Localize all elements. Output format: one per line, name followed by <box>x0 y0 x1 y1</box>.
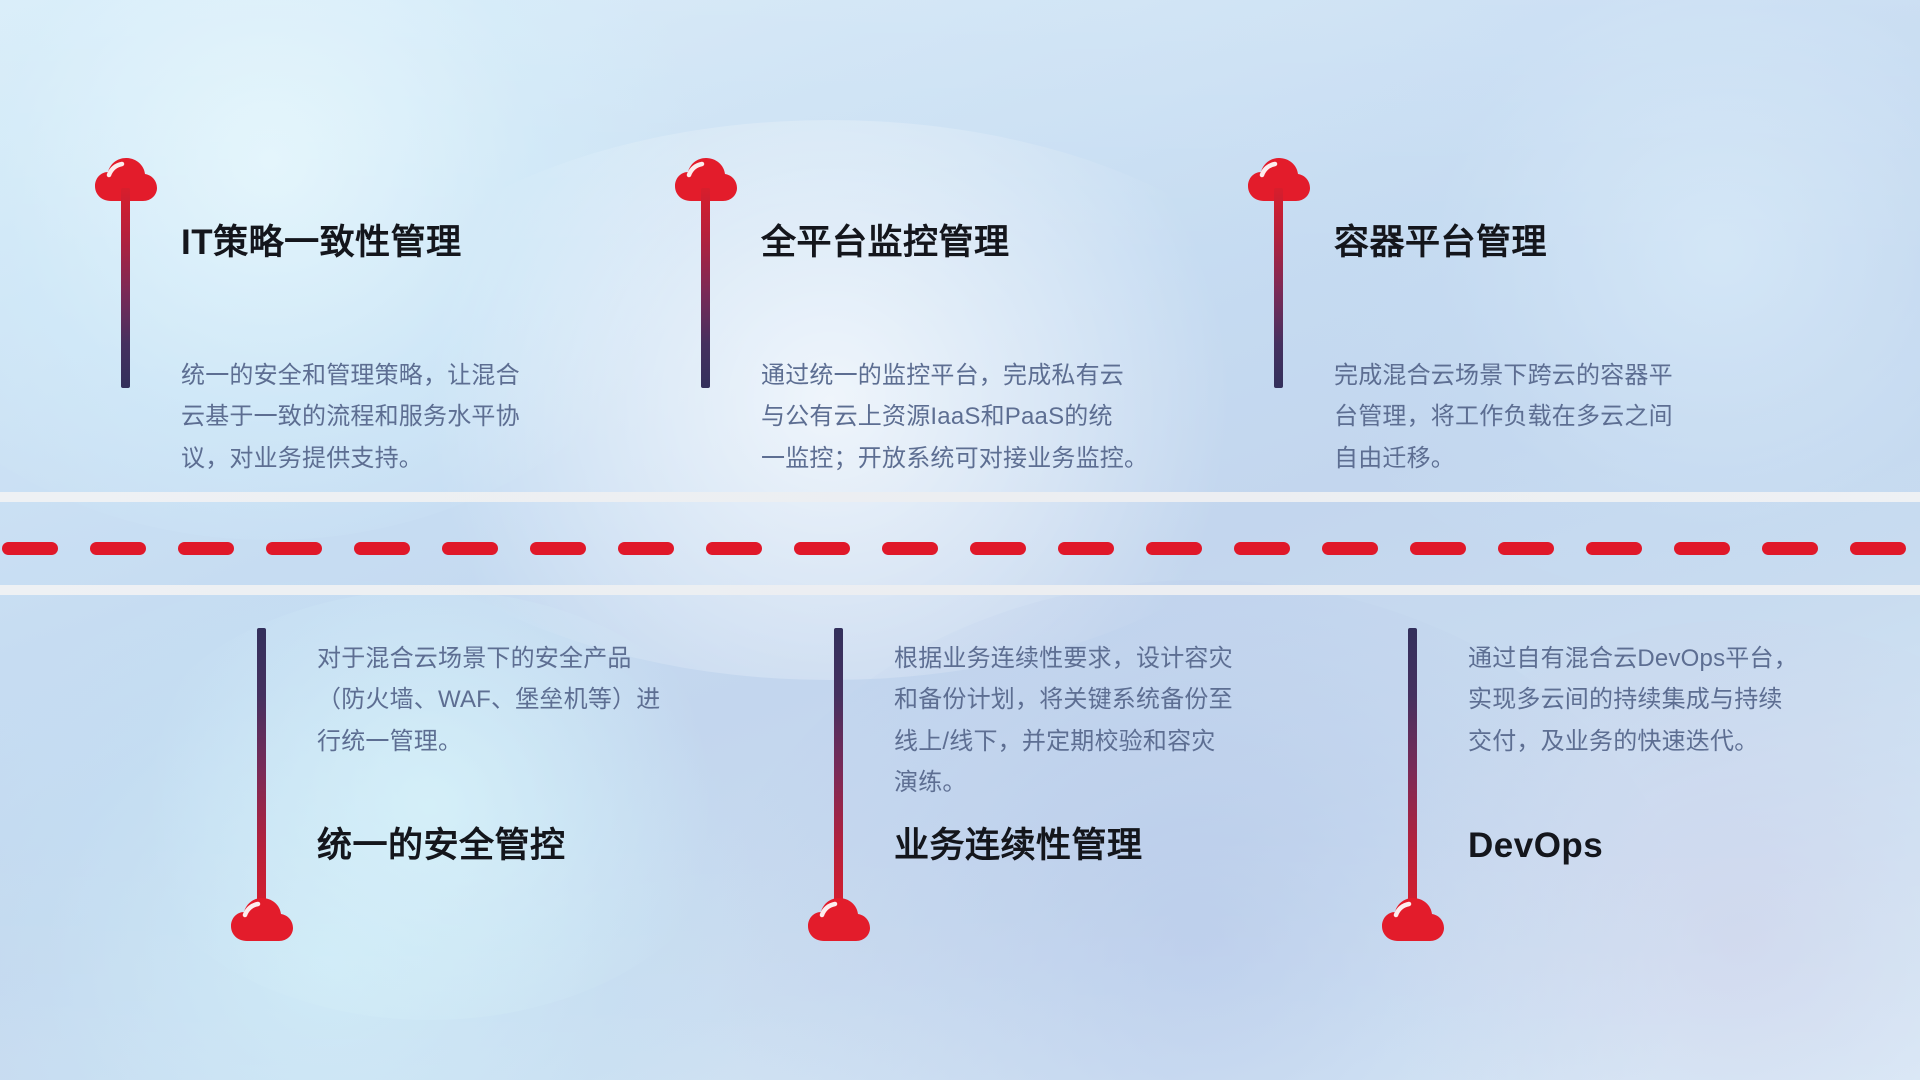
divider-band-upper <box>0 492 1920 502</box>
dash-segment <box>442 542 498 555</box>
top-card-body-1: 统一的安全和管理策略，让混合 云基于一致的流程和服务水平协 议，对业务提供支持。 <box>181 355 601 479</box>
dash-segment <box>90 542 146 555</box>
dash-segment <box>354 542 410 555</box>
timeline-stem <box>834 628 843 913</box>
cloud-icon <box>231 898 293 942</box>
bottom-card-body-3: 通过自有混合云DevOps平台， 实现多云间的持续集成与持续 交付，及业务的快速… <box>1468 638 1898 762</box>
bottom-card-title-3: DevOps <box>1468 825 1603 867</box>
dash-segment <box>266 542 322 555</box>
top-card-title-1: IT策略一致性管理 <box>181 222 462 264</box>
top-card-body-2: 通过统一的监控平台，完成私有云 与公有云上资源IaaS和PaaS的统 一监控；开… <box>761 355 1211 479</box>
cloud-icon <box>808 898 870 942</box>
dash-segment <box>794 542 850 555</box>
dash-segment <box>2 542 58 555</box>
timeline-stem <box>1408 628 1417 913</box>
top-card-title-3: 容器平台管理 <box>1334 222 1547 264</box>
dash-segment <box>1234 542 1290 555</box>
dash-segment <box>1850 542 1906 555</box>
dash-segment <box>1586 542 1642 555</box>
timeline-stem <box>257 628 266 913</box>
bottom-card-title-2: 业务连续性管理 <box>894 825 1143 867</box>
infographic-canvas: IT策略一致性管理 统一的安全和管理策略，让混合 云基于一致的流程和服务水平协 … <box>0 0 1920 1080</box>
bottom-card-title-1: 统一的安全管控 <box>317 825 566 867</box>
dash-segment <box>1322 542 1378 555</box>
top-card-body-3: 完成混合云场景下跨云的容器平 台管理，将工作负载在多云之间 自由迁移。 <box>1334 355 1764 479</box>
bottom-card-body-1: 对于混合云场景下的安全产品 （防火墙、WAF、堡垒机等）进 行统一管理。 <box>317 638 747 762</box>
dash-segment <box>1146 542 1202 555</box>
dash-segment <box>706 542 762 555</box>
dash-segment <box>970 542 1026 555</box>
dash-segment <box>1674 542 1730 555</box>
dash-segment <box>530 542 586 555</box>
dash-segment <box>178 542 234 555</box>
timeline-stem <box>121 188 130 388</box>
dash-segment <box>1498 542 1554 555</box>
dash-segment <box>1058 542 1114 555</box>
bottom-card-body-2: 根据业务连续性要求，设计容灾 和备份计划，将关键系统备份至 线上/线下，并定期校… <box>894 638 1324 803</box>
divider-dashed-line <box>0 541 1920 555</box>
divider-band-lower <box>0 585 1920 595</box>
dash-segment <box>618 542 674 555</box>
cloud-icon <box>1382 898 1444 942</box>
dash-segment <box>1410 542 1466 555</box>
timeline-stem <box>701 188 710 388</box>
dash-segment <box>1762 542 1818 555</box>
dash-segment <box>882 542 938 555</box>
top-card-title-2: 全平台监控管理 <box>761 222 1010 264</box>
timeline-stem <box>1274 188 1283 388</box>
